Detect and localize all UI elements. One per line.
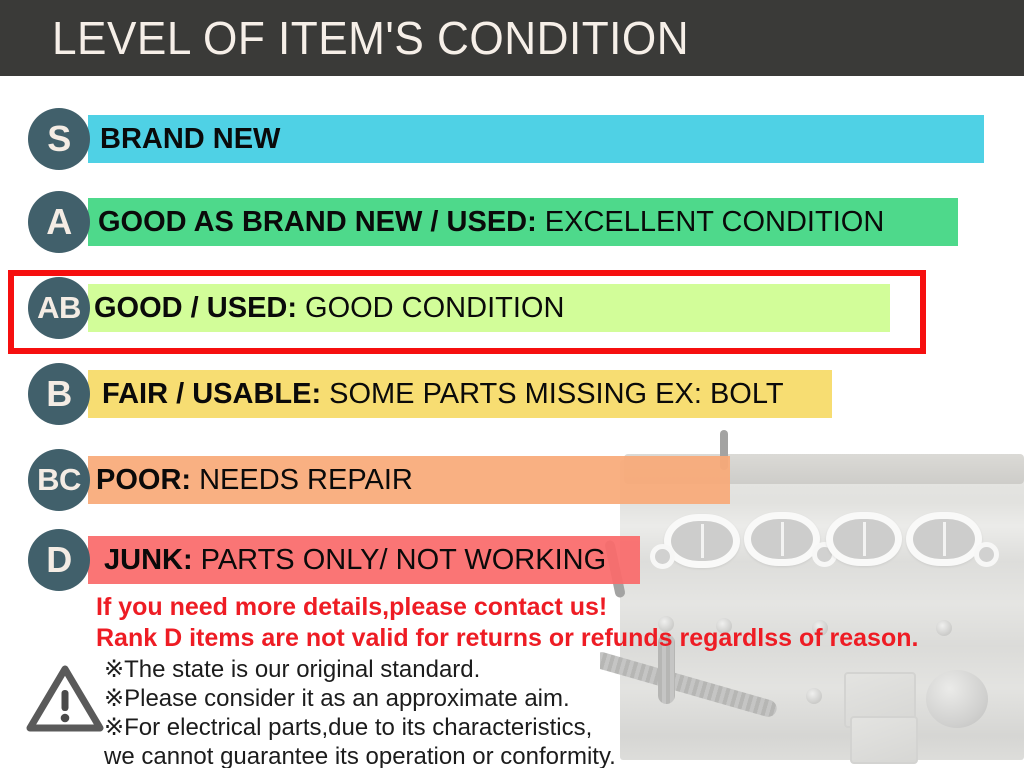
rank-text-bc: POOR: NEEDS REPAIR xyxy=(96,456,413,504)
condition-level-infographic: LEVEL OF ITEM'S CONDITION S BRAND NEW A … xyxy=(0,0,1024,768)
warning-triangle-icon xyxy=(26,663,104,733)
rank-text-s: BRAND NEW xyxy=(100,115,288,163)
disclaimer-notes-block: ※The state is our original standard. ※Pl… xyxy=(104,655,616,768)
rank-badge-b: B xyxy=(28,363,90,425)
rank-rest-label: EXCELLENT CONDITION xyxy=(545,206,884,239)
rank-text-a: GOOD AS BRAND NEW / USED: EXCELLENT COND… xyxy=(98,198,884,246)
rank-badge-bc: BC xyxy=(28,449,90,511)
rank-lead-label: JUNK: xyxy=(104,544,193,577)
rank-text-b: FAIR / USABLE: SOME PARTS MISSING EX: BO… xyxy=(102,370,784,418)
rank-badge-label: D xyxy=(46,539,72,581)
rank-badge-ab: AB xyxy=(28,277,90,339)
rank-text-ab: GOOD / USED: GOOD CONDITION xyxy=(94,284,564,332)
rank-lead-label: BRAND NEW xyxy=(100,123,280,156)
rank-rest-label: NEEDS REPAIR xyxy=(199,464,413,497)
rank-lead-label: POOR: xyxy=(96,464,191,497)
rank-badge-s: S xyxy=(28,108,90,170)
red-notice-block: If you need more details,please contact … xyxy=(96,592,918,654)
rank-text-d: JUNK: PARTS ONLY/ NOT WORKING xyxy=(104,536,606,584)
notice-line-2: Rank D items are not valid for returns o… xyxy=(96,623,918,654)
rank-badge-label: AB xyxy=(37,290,81,326)
rank-badge-label: BC xyxy=(37,462,81,498)
notice-line-1: If you need more details,please contact … xyxy=(96,592,918,623)
note-line-3: ※For electrical parts,due to its charact… xyxy=(104,713,616,742)
note-line-1: ※The state is our original standard. xyxy=(104,655,616,684)
rank-rest-label: GOOD CONDITION xyxy=(305,292,564,325)
rank-badge-d: D xyxy=(28,529,90,591)
rank-badge-label: B xyxy=(46,373,72,415)
rank-rest-label: SOME PARTS MISSING EX: BOLT xyxy=(329,378,783,411)
rank-lead-label: GOOD / USED: xyxy=(94,292,297,325)
rank-lead-label: FAIR / USABLE: xyxy=(102,378,321,411)
note-line-2: ※Please consider it as an approximate ai… xyxy=(104,684,616,713)
rank-badge-label: A xyxy=(46,201,72,243)
rank-badge-label: S xyxy=(47,118,71,160)
rank-lead-label: GOOD AS BRAND NEW / USED: xyxy=(98,206,537,239)
rank-rest-label: PARTS ONLY/ NOT WORKING xyxy=(201,544,607,577)
note-line-4: we cannot guarantee its operation or con… xyxy=(104,742,616,768)
rank-badge-a: A xyxy=(28,191,90,253)
